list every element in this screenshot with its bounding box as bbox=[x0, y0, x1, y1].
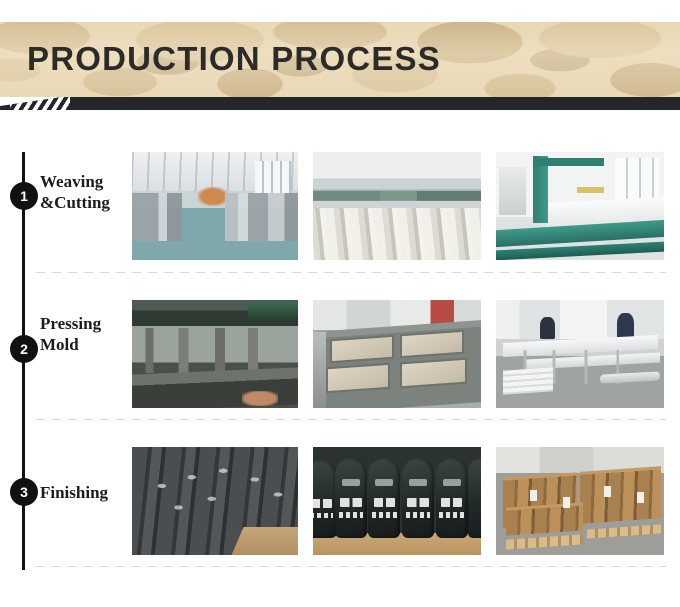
carton-label-detail bbox=[563, 497, 570, 508]
mold-tray-detail bbox=[400, 330, 464, 358]
warm-light-detail bbox=[198, 187, 228, 206]
stripe-hatch-marks bbox=[10, 97, 70, 110]
shield-viewport-detail bbox=[409, 479, 427, 486]
carton-stack-detail bbox=[506, 503, 583, 536]
shield-police-marking bbox=[313, 513, 333, 518]
yellow-accent-detail bbox=[577, 187, 604, 193]
riot-shield-detail bbox=[335, 458, 367, 538]
press-columns-detail bbox=[132, 328, 298, 373]
material-stack-detail bbox=[503, 367, 553, 394]
riot-shield-detail bbox=[436, 458, 468, 538]
carton-stack-detail bbox=[580, 466, 661, 523]
photo-step3-panel-stacks bbox=[132, 447, 298, 555]
worker-figure-detail bbox=[540, 317, 555, 339]
shield-police-marking bbox=[339, 512, 363, 518]
riot-shield-detail bbox=[368, 458, 400, 538]
carton-label-detail bbox=[604, 486, 611, 497]
section-divider-3 bbox=[36, 566, 666, 567]
photo-step1-fabric-rolls bbox=[313, 152, 481, 260]
shield-chinese-marking bbox=[374, 498, 396, 508]
background-wall-detail bbox=[496, 300, 664, 339]
production-process-page: PRODUCTION PROCESS 1 Weaving &Cutting bbox=[0, 0, 680, 607]
worker-figure-detail bbox=[617, 313, 634, 339]
photo-step2-hydraulic-press bbox=[132, 300, 298, 408]
step-label-1: Weaving &Cutting bbox=[40, 172, 132, 213]
step-label-3-line-1: Finishing bbox=[40, 483, 132, 504]
step-label-2: Pressing Mold bbox=[40, 314, 132, 355]
photo-step3-police-shields bbox=[313, 447, 481, 555]
section-divider-1 bbox=[36, 272, 666, 273]
header-banner: PRODUCTION PROCESS bbox=[0, 22, 680, 97]
roll-cores-detail bbox=[313, 232, 481, 256]
header-bottom-stripe bbox=[0, 97, 680, 110]
cabinet-detail bbox=[499, 167, 526, 215]
riot-shield-detail bbox=[402, 458, 434, 538]
mold-tray-detail bbox=[330, 334, 394, 362]
step-label-2-line-2: Mold bbox=[40, 335, 132, 356]
mold-tray-detail bbox=[400, 358, 467, 389]
step-badge-1: 1 bbox=[10, 182, 38, 210]
shield-police-marking bbox=[406, 512, 430, 518]
page-title: PRODUCTION PROCESS bbox=[27, 40, 441, 78]
riot-shield-detail bbox=[313, 460, 337, 538]
photo-step2-molds bbox=[313, 300, 481, 408]
photo-step3-packed-cartons bbox=[496, 447, 664, 555]
shield-police-marking bbox=[439, 512, 463, 518]
step-label-1-line-2: &Cutting bbox=[40, 193, 132, 214]
shield-viewport-detail bbox=[443, 479, 461, 486]
step-badge-2: 2 bbox=[10, 335, 38, 363]
green-machine-part-detail bbox=[248, 302, 298, 319]
carton-label-detail bbox=[637, 492, 644, 503]
wooden-pallet-detail bbox=[506, 534, 583, 549]
side-panel-detail bbox=[313, 332, 326, 408]
shield-viewport-detail bbox=[342, 479, 360, 486]
step-label-1-line-1: Weaving bbox=[40, 172, 132, 193]
step-label-3: Finishing bbox=[40, 483, 132, 504]
photo-step1-cutting-machine bbox=[496, 152, 664, 260]
mold-tray-detail bbox=[326, 363, 390, 393]
carton-label-detail bbox=[530, 490, 537, 501]
machine-post-detail bbox=[533, 156, 548, 223]
photo-step1-weaving-machines bbox=[132, 152, 298, 260]
shield-police-marking bbox=[372, 512, 396, 518]
shield-chinese-marking bbox=[313, 499, 332, 508]
wooden-pallet-detail bbox=[587, 524, 661, 538]
section-divider-2 bbox=[36, 419, 666, 420]
shield-viewport-detail bbox=[375, 479, 393, 486]
machine-arm-detail bbox=[533, 158, 604, 166]
background-band-detail bbox=[313, 191, 481, 201]
step-badge-3: 3 bbox=[10, 478, 38, 506]
window-detail bbox=[255, 161, 292, 193]
photo-step2-cutting-tables bbox=[496, 300, 664, 408]
step-label-2-line-1: Pressing bbox=[40, 314, 132, 335]
operator-hand-detail bbox=[242, 391, 279, 406]
shield-chinese-marking bbox=[407, 498, 429, 508]
riot-shield-detail bbox=[468, 458, 481, 538]
shield-chinese-marking bbox=[441, 498, 463, 508]
shield-chinese-marking bbox=[340, 498, 362, 508]
